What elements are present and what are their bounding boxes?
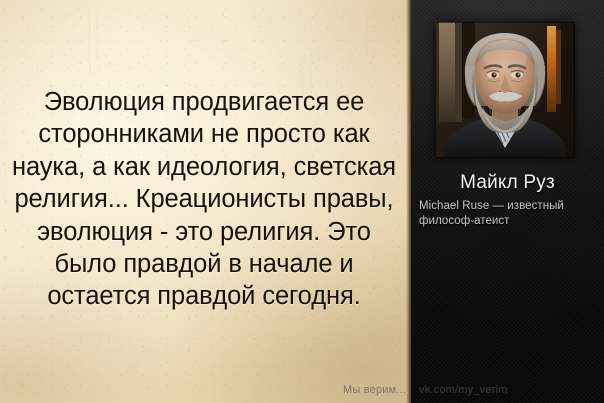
quote-line: остается правдой сегодня. — [6, 280, 402, 312]
quote-text-block: Эволюция продвигается ее сторонниками не… — [6, 86, 402, 313]
quote-line: сторонниками не просто как — [6, 118, 402, 150]
watermark-url: vk.com/my_verim — [419, 384, 508, 397]
watermark-community-name: Мы верим... — [343, 384, 406, 397]
quote-line: наука, а как идеология, светская — [6, 151, 402, 183]
quote-line: было правдой в начале и — [6, 248, 402, 280]
portrait-photo — [435, 22, 575, 158]
attribution-block: Майкл Руз Michael Ruse — известный филос… — [411, 171, 604, 228]
quote-poster: Эволюция продвигается ее сторонниками не… — [0, 0, 604, 403]
dark-panel: Майкл Руз Michael Ruse — известный филос… — [411, 0, 604, 403]
person-description: Michael Ruse — известный философ-атеист — [411, 199, 604, 228]
quote-line: Эволюция продвигается ее — [6, 86, 402, 118]
paper-panel: Эволюция продвигается ее сторонниками не… — [0, 0, 411, 403]
quote-line: религия... Креационисты правы, — [6, 183, 402, 215]
quote-line: эволюция - это религия. Это — [6, 216, 402, 248]
person-name: Майкл Руз — [411, 171, 604, 194]
